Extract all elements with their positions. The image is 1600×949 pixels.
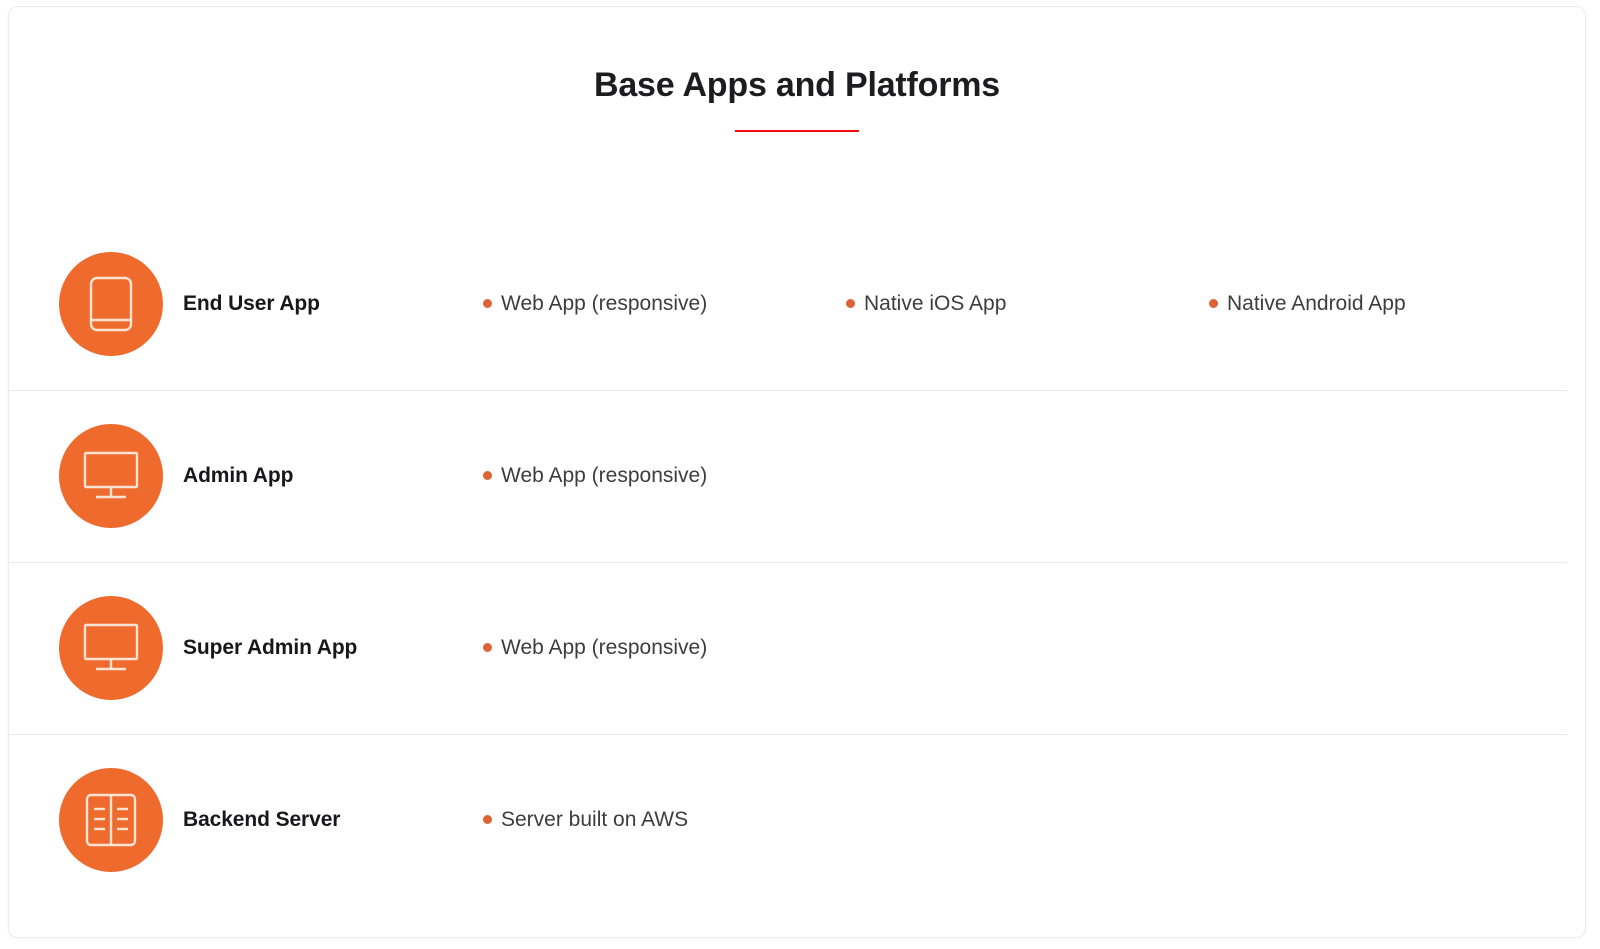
platform-items: Server built on AWS <box>483 808 1585 832</box>
platform-row-admin-app: Admin App Web App (responsive) <box>9 390 1585 562</box>
monitor-icon <box>59 596 163 700</box>
platform-row-label: Admin App <box>183 464 483 488</box>
platform-items: Web App (responsive) <box>483 636 1585 660</box>
platform-item-label: Web App (responsive) <box>501 292 707 316</box>
platform-row-label: Backend Server <box>183 808 483 832</box>
platform-item: Web App (responsive) <box>483 464 846 488</box>
platform-item: Server built on AWS <box>483 808 846 832</box>
bullet-dot-icon <box>846 299 855 308</box>
platform-item-label: Native Android App <box>1227 292 1406 316</box>
platform-rows-list: End User App Web App (responsive) Native… <box>9 218 1585 906</box>
platform-items: Web App (responsive) Native iOS App Nati… <box>483 292 1585 316</box>
platform-row-backend-server: Backend Server Server built on AWS <box>9 734 1585 906</box>
platform-row-end-user-app: End User App Web App (responsive) Native… <box>9 218 1585 390</box>
platform-items: Web App (responsive) <box>483 464 1585 488</box>
page-header: Base Apps and Platforms <box>9 7 1585 132</box>
platform-item-label: Web App (responsive) <box>501 464 707 488</box>
bullet-dot-icon <box>483 815 492 824</box>
bullet-dot-icon <box>483 643 492 652</box>
platform-item: Web App (responsive) <box>483 292 846 316</box>
bullet-dot-icon <box>483 299 492 308</box>
page-card: Base Apps and Platforms End User App Web… <box>8 6 1586 938</box>
platform-item: Native iOS App <box>846 292 1209 316</box>
bullet-dot-icon <box>1209 299 1218 308</box>
platform-item-label: Native iOS App <box>864 292 1006 316</box>
platform-row-super-admin-app: Super Admin App Web App (responsive) <box>9 562 1585 734</box>
platform-item-label: Web App (responsive) <box>501 636 707 660</box>
title-underline-rule <box>735 130 859 132</box>
platform-row-label: Super Admin App <box>183 636 483 660</box>
platform-item-label: Server built on AWS <box>501 808 688 832</box>
platform-item: Web App (responsive) <box>483 636 846 660</box>
monitor-icon <box>59 424 163 528</box>
tablet-icon <box>59 252 163 356</box>
server-rack-icon <box>59 768 163 872</box>
bullet-dot-icon <box>483 471 492 480</box>
page-title: Base Apps and Platforms <box>9 65 1585 106</box>
platform-item: Native Android App <box>1209 292 1572 316</box>
platform-row-label: End User App <box>183 292 483 316</box>
